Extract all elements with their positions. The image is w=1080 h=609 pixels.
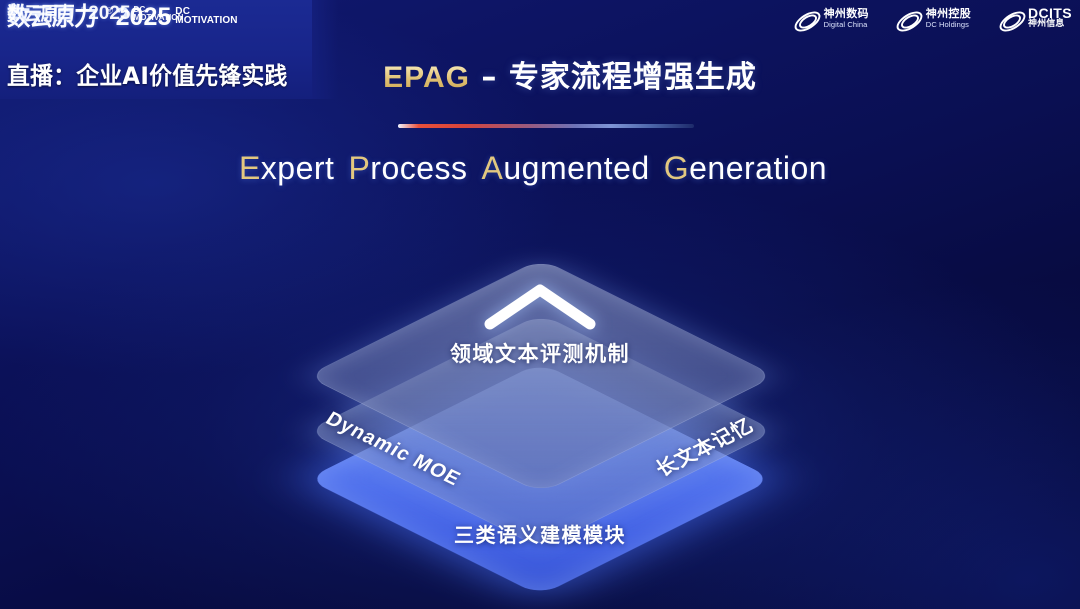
slide-canvas: 数云原力 ® 2025 DC MOTIVATION 直播：企业AI价值先锋实践 … [0,0,1080,609]
watermark-dc-motivation: DC MOTIVATION [133,4,183,21]
watermark-registered-mark: ® [81,4,86,16]
watermark-year: 2025 [88,4,130,24]
watermark-motivation-text: MOTIVATION [133,14,183,22]
watermark-name-cn: 数云原力 [7,4,74,24]
watermark-logo: 数云原力 ® 2025 DC MOTIVATION [7,4,1070,601]
